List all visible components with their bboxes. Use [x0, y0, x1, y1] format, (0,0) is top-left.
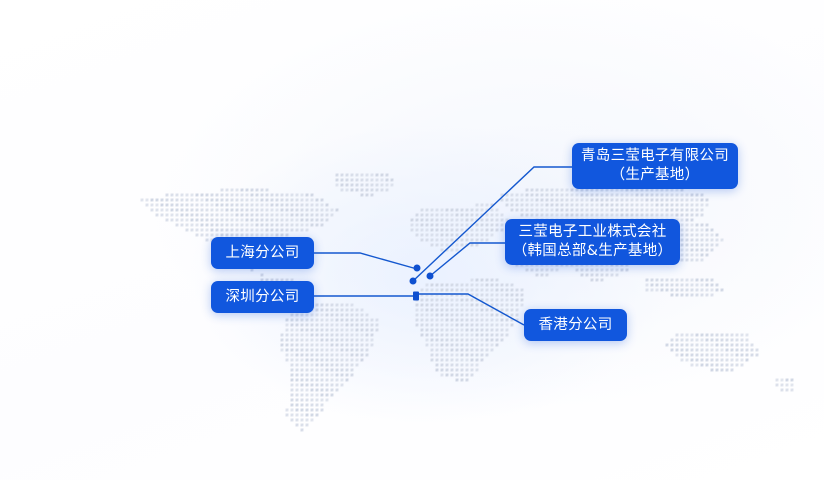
label-hongkong-line1: 香港分公司: [539, 316, 613, 335]
label-qingdao-line1: 青岛三莹电子有限公司: [581, 147, 729, 166]
map-marker-qingdao[interactable]: [410, 278, 417, 285]
label-korea-line2: （韩国总部&生产基地）: [513, 242, 673, 261]
label-korea-hq[interactable]: 三莹电子工业株式会社 （韩国总部&生产基地）: [505, 219, 680, 265]
label-shanghai-line1: 上海分公司: [226, 244, 300, 263]
world-map-dots: [0, 0, 824, 480]
label-qingdao-line2: （生产基地）: [611, 166, 700, 185]
map-marker-shenzhen[interactable]: [413, 292, 419, 301]
map-marker-shanghai[interactable]: [414, 265, 421, 272]
label-qingdao[interactable]: 青岛三莹电子有限公司 （生产基地）: [572, 143, 738, 189]
world-map: [0, 0, 824, 480]
world-map-infographic: 青岛三莹电子有限公司 （生产基地） 三莹电子工业株式会社 （韩国总部&生产基地）…: [0, 0, 824, 480]
label-shanghai[interactable]: 上海分公司: [211, 237, 314, 269]
map-marker-korea[interactable]: [427, 273, 434, 280]
label-shenzhen[interactable]: 深圳分公司: [211, 281, 314, 313]
label-hongkong[interactable]: 香港分公司: [524, 309, 627, 341]
label-korea-line1: 三莹电子工业株式会社: [519, 223, 667, 242]
label-shenzhen-line1: 深圳分公司: [226, 288, 300, 307]
